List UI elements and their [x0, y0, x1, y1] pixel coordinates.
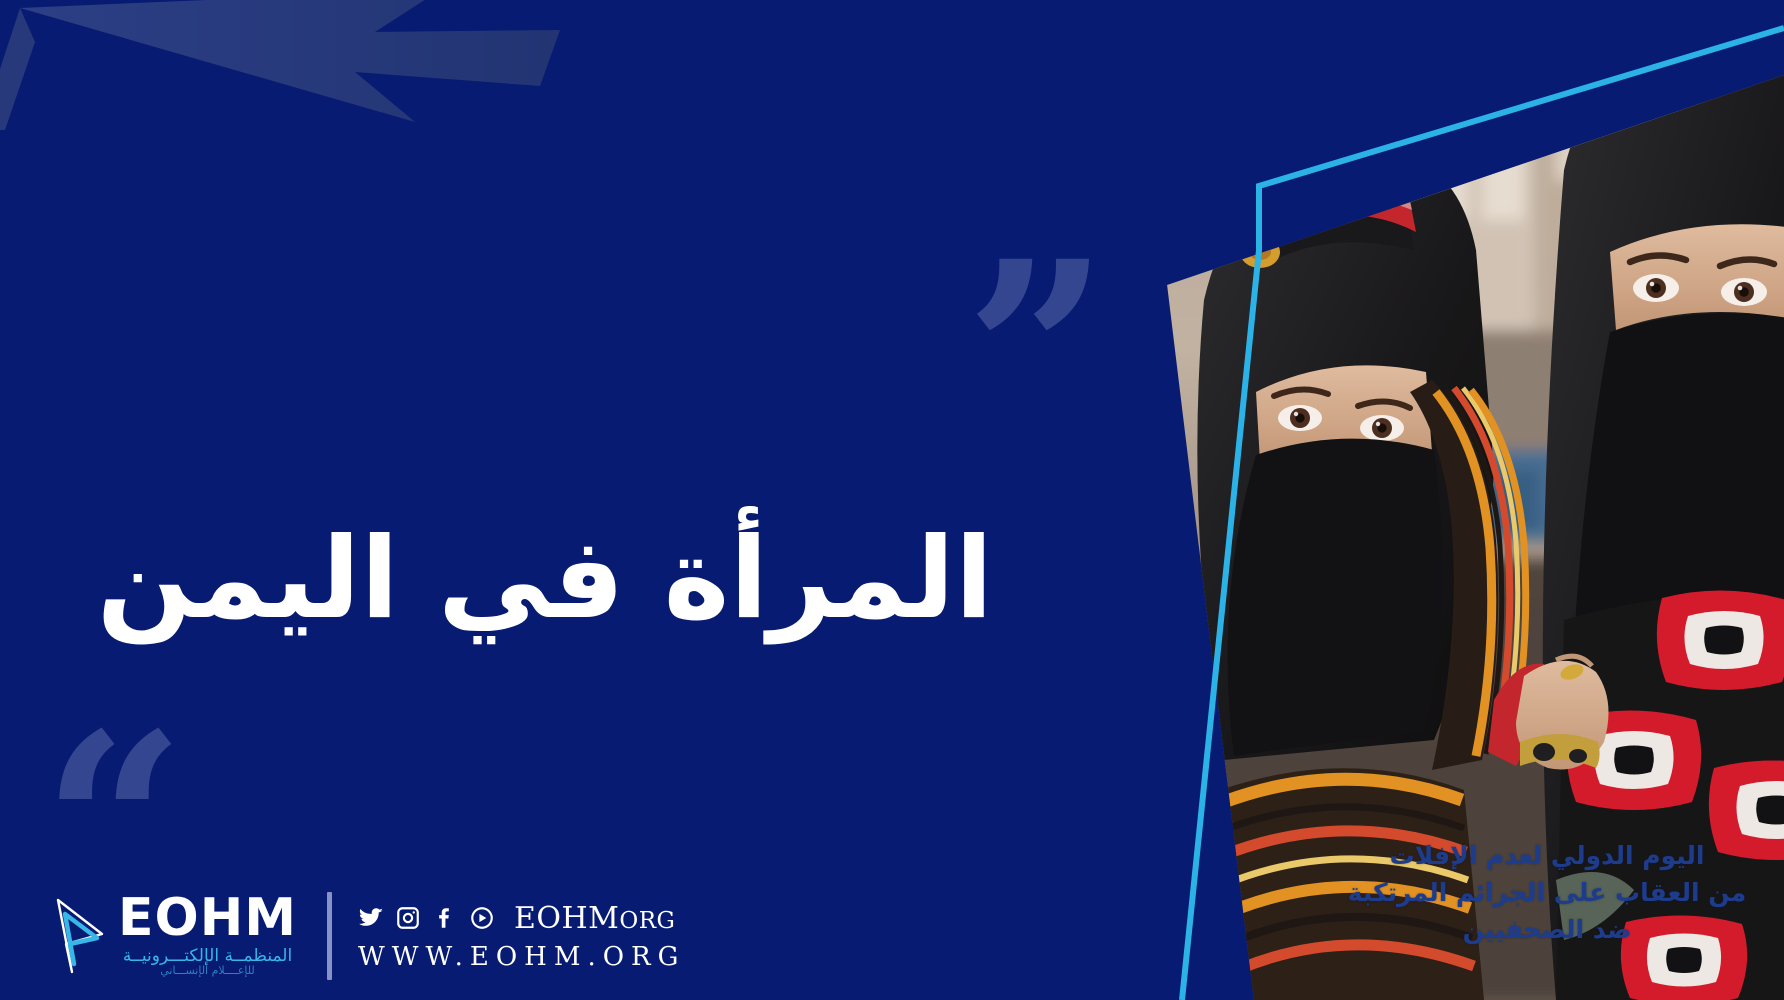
- photo-panel: [1164, 0, 1784, 1000]
- social-handle-main: EOHM: [514, 901, 619, 936]
- chevron-arrow-decoration-icon: [0, 0, 580, 140]
- facebook-icon[interactable]: [432, 905, 458, 931]
- social-media-card: ” “: [0, 0, 1784, 1000]
- footer-bar: EOHM المنظمــة الإلكتـــرونيــة للإعــــ…: [52, 892, 685, 980]
- social-info: EOHMORG WWW.EOHM.ORG: [358, 901, 685, 972]
- logo-arabic-line-2: للإعــــلام الإنســـاني: [118, 965, 297, 977]
- photo-image: [1164, 0, 1784, 1000]
- website-url[interactable]: WWW.EOHM.ORG: [358, 942, 685, 972]
- play-arrow-logo-icon: [52, 894, 108, 976]
- quote-mark-close: ”: [965, 228, 1109, 478]
- logo-wordmark: EOHM: [118, 894, 297, 943]
- logo-arabic-line-1: المنظمــة الإلكتـــرونيــة: [118, 947, 297, 966]
- social-handle[interactable]: EOHMORG: [514, 901, 675, 936]
- social-handle-suffix: ORG: [619, 908, 675, 934]
- twitter-icon[interactable]: [358, 905, 384, 931]
- eohm-logo[interactable]: EOHM المنظمــة الإلكتـــرونيــة للإعــــ…: [52, 894, 297, 977]
- page-title: المرأة في اليمن: [0, 515, 1090, 644]
- footer-divider: [327, 892, 332, 980]
- youtube-icon[interactable]: [469, 905, 495, 931]
- instagram-icon[interactable]: [395, 905, 421, 931]
